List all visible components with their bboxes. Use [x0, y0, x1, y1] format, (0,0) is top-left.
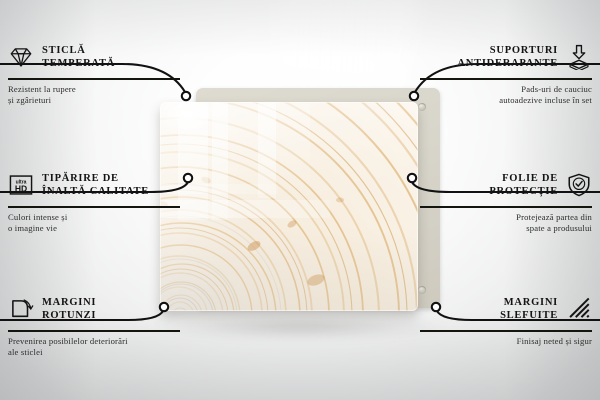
diamond-icon [8, 44, 34, 70]
feature-title: TIPĂRIRE DE ÎNALTĂ CALITATE [42, 172, 149, 198]
press-pad-icon [566, 44, 592, 70]
feature-subtitle: Rezistent la rupere și zgârieturi [8, 84, 180, 107]
product-image [160, 88, 440, 324]
divider [8, 206, 180, 208]
feature-suporturi-antiderapante: SUPORTURI ANTIDERAPANTE Pads-uri de cauc… [420, 40, 592, 107]
rounded-corner-icon [8, 296, 34, 322]
feature-subtitle: Prevenirea posibilelor deteriorări ale s… [8, 336, 180, 359]
shield-check-icon [566, 172, 592, 198]
feature-title: STICLĂ TEMPERATĂ [42, 44, 115, 70]
ultra-hd-icon: ultra HD [8, 172, 34, 198]
feature-title: FOLIE DE PROTECȚIE [489, 172, 558, 198]
divider [420, 78, 592, 80]
feature-folie-de-protectie: FOLIE DE PROTECȚIE Protejează partea din… [420, 168, 592, 235]
glass-panel [160, 102, 418, 311]
feature-title: MARGINI SLEFUITE [500, 296, 558, 322]
divider [8, 78, 180, 80]
feature-title: SUPORTURI ANTIDERAPANTE [457, 44, 558, 70]
feature-margini-rotunzi: MARGINI ROTUNZI Prevenirea posibilelor d… [8, 292, 180, 359]
feature-sticla-temperata: STICLĂ TEMPERATĂ Rezistent la rupere și … [8, 40, 180, 107]
feature-tiparire-calitate: ultra HD TIPĂRIRE DE ÎNALTĂ CALITATE Cul… [8, 168, 180, 235]
feature-subtitle: Protejează partea din spate a produsului [420, 212, 592, 235]
divider [420, 330, 592, 332]
feature-subtitle: Culori intense și o imagine vie [8, 212, 180, 235]
feature-subtitle: Finisaj neted și sigur [420, 336, 592, 348]
product-infographic: STICLĂ TEMPERATĂ Rezistent la rupere și … [0, 0, 600, 400]
hatch-lines-icon [566, 296, 592, 322]
feature-margini-slefuite: MARGINI SLEFUITE Finisaj neted și sigur [420, 292, 592, 347]
glass-edge [160, 102, 418, 311]
feature-subtitle: Pads-uri de cauciuc autoadezive incluse … [420, 84, 592, 107]
divider [420, 206, 592, 208]
svg-text:HD: HD [15, 184, 27, 194]
feature-title: MARGINI ROTUNZI [42, 296, 96, 322]
divider [8, 330, 180, 332]
